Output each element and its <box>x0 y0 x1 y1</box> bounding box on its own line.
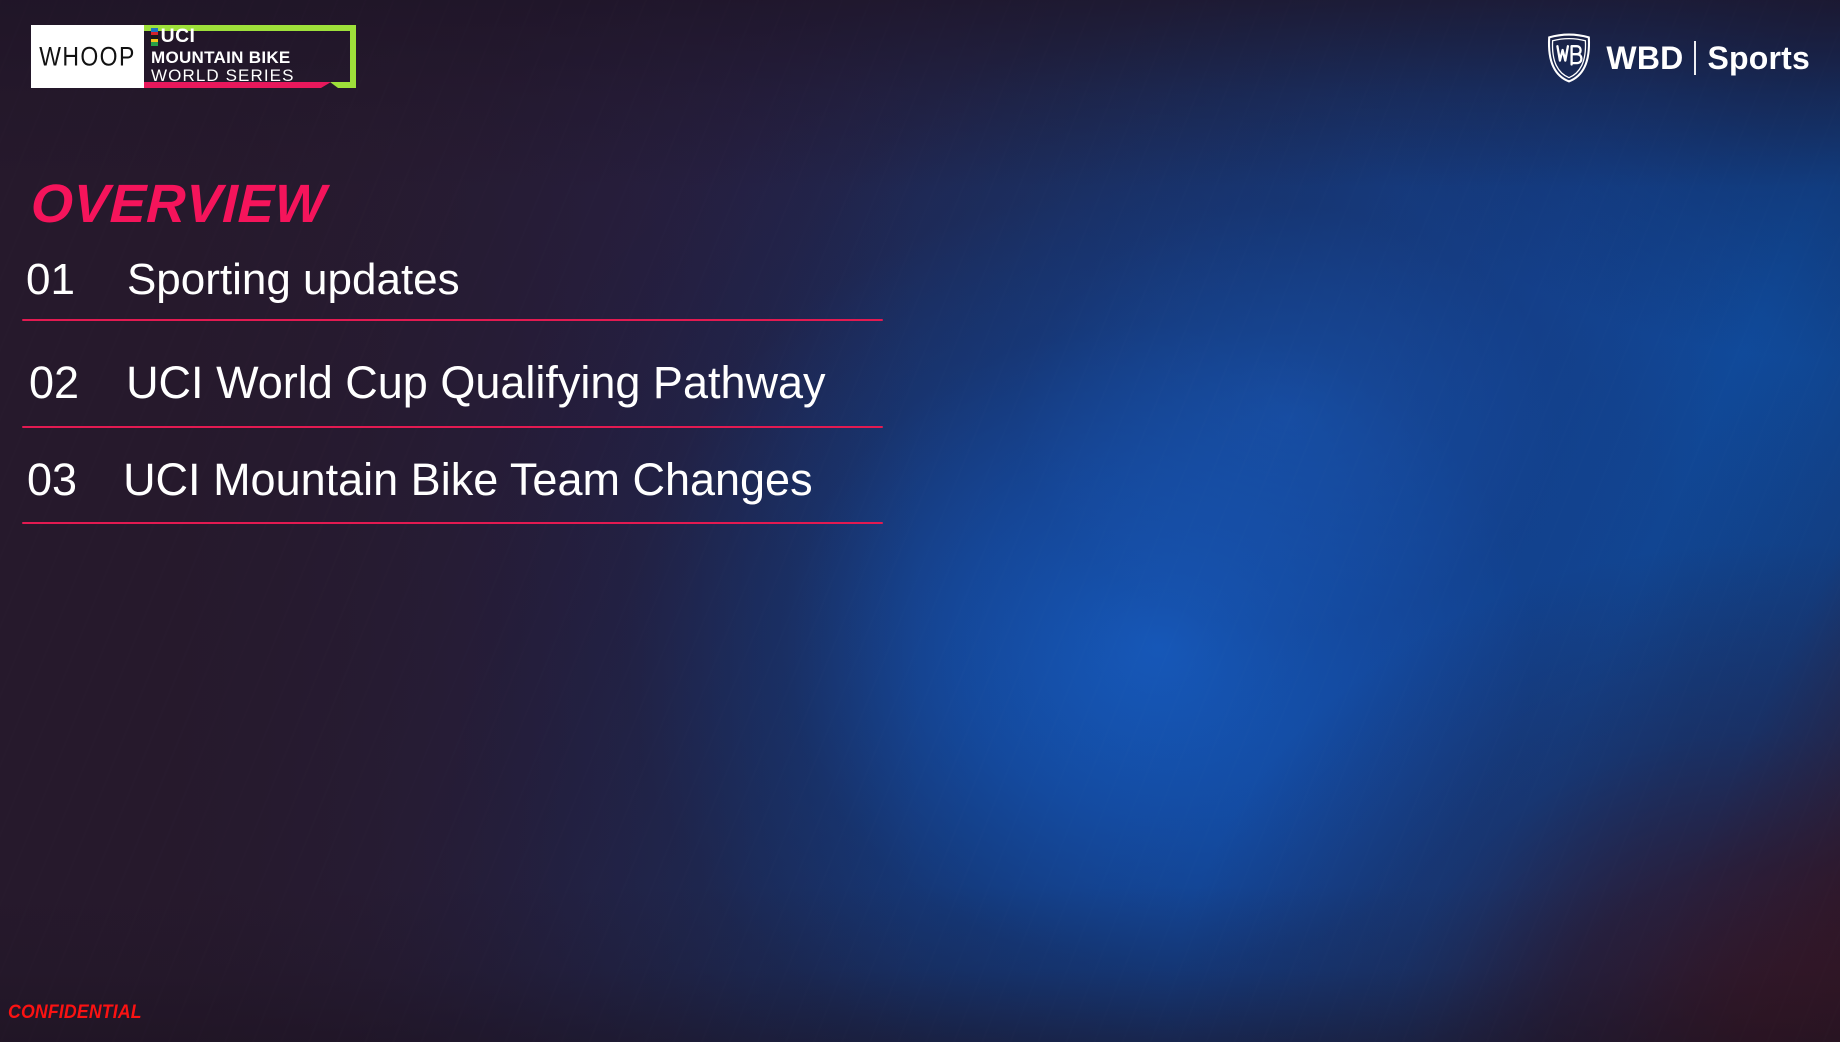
mtb-line-one: MOUNTAIN BIKE <box>151 49 356 66</box>
whoop-wordmark: WHOOP <box>39 41 135 73</box>
agenda-item-number: 02 <box>29 357 79 409</box>
wbd-divider <box>1694 41 1696 75</box>
page-title: OVERVIEW <box>30 173 327 235</box>
wbd-sports-logo: WBD Sports <box>1546 32 1810 84</box>
confidential-label: CONFIDENTIAL <box>8 1002 142 1024</box>
whoop-logo-box: WHOOP <box>31 25 144 88</box>
mtb-wordmark-block: UCI MOUNTAIN BIKE WORLD SERIES <box>144 25 356 88</box>
warner-bros-shield-icon <box>1546 33 1592 83</box>
agenda-divider-1 <box>22 319 883 321</box>
whoop-uci-mtb-world-series-logo: WHOOP UCI MOUNTAIN BIKE WORLD SERIES <box>31 25 356 88</box>
agenda-item-label: UCI Mountain Bike Team Changes <box>123 454 813 506</box>
agenda-item-label: Sporting updates <box>127 255 460 305</box>
agenda-item-01[interactable]: 01 Sporting updates <box>0 255 920 305</box>
agenda-list: 01 Sporting updates 02 UCI World Cup Qua… <box>0 255 920 524</box>
agenda-item-03[interactable]: 03 UCI Mountain Bike Team Changes <box>0 454 920 506</box>
uci-rainbow-stripes-icon <box>151 28 158 46</box>
agenda-item-number: 01 <box>26 255 75 305</box>
uci-wordmark: UCI <box>161 27 196 46</box>
slide-canvas: WHOOP UCI MOUNTAIN BIKE WORLD SERIES WBD <box>0 0 1840 1042</box>
wbd-sub-brand-label: Sports <box>1707 40 1810 77</box>
agenda-item-label: UCI World Cup Qualifying Pathway <box>126 357 825 409</box>
uci-row: UCI <box>151 27 356 48</box>
agenda-divider-3 <box>22 522 883 524</box>
agenda-item-number: 03 <box>27 454 77 506</box>
agenda-divider-2 <box>22 426 883 428</box>
agenda-item-02[interactable]: 02 UCI World Cup Qualifying Pathway <box>0 357 920 409</box>
mtb-line-two: WORLD SERIES <box>151 67 356 85</box>
wbd-brand-label: WBD <box>1606 40 1683 77</box>
wbd-sports-wordmark: WBD Sports <box>1606 40 1810 77</box>
